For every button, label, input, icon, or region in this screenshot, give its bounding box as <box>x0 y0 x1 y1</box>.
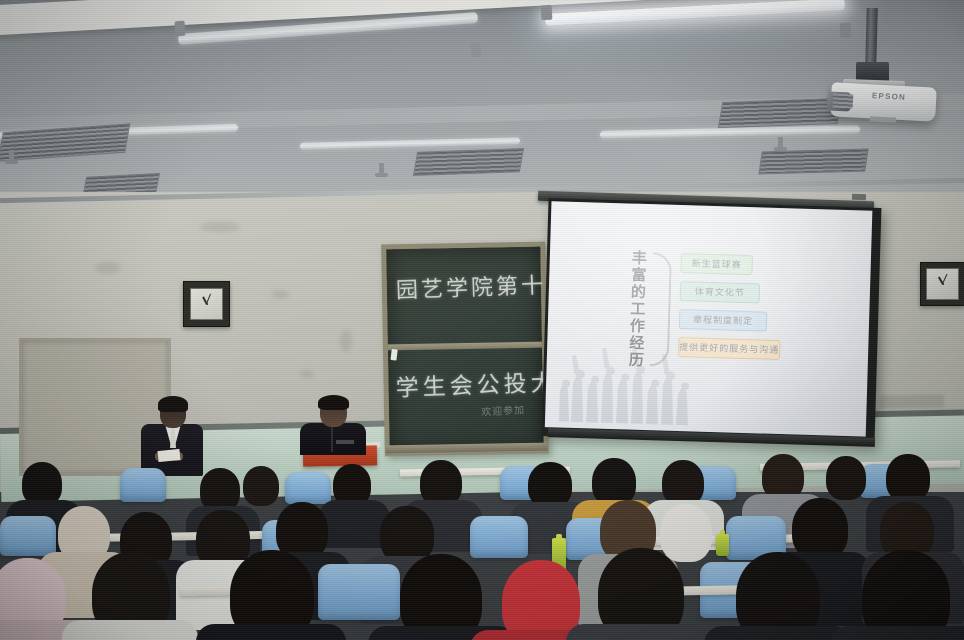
wall-smudge <box>272 290 289 299</box>
chalk-stick <box>390 349 397 361</box>
blackboard-surface: 园艺学院第十届 学生会公投大会 欢迎参加 <box>386 247 544 452</box>
wall-clock-right <box>920 262 964 306</box>
water-bottle[interactable] <box>716 534 729 556</box>
projector-mount-pole <box>865 8 878 66</box>
tube-end-cap <box>174 21 185 37</box>
audience-head <box>886 454 930 502</box>
wall-smudge <box>95 262 121 274</box>
wall-smudge <box>340 330 352 352</box>
chair[interactable] <box>285 472 331 504</box>
audience-torso <box>62 620 198 640</box>
blackboard-middle-rail <box>388 342 542 351</box>
audience-torso <box>196 624 346 640</box>
chair[interactable] <box>470 516 528 558</box>
speaker-jacket-hair <box>318 395 349 410</box>
tube-end-cap <box>471 43 482 58</box>
ceiling-air-vent <box>413 148 524 176</box>
ceiling-air-vent <box>718 98 843 128</box>
ceiling-pendant <box>9 150 14 162</box>
slide-bullet-box: 新生篮球赛 <box>680 253 753 275</box>
wall-mark <box>880 394 944 408</box>
slide-bullet-box: 体育文化节 <box>680 281 761 303</box>
clock-face <box>190 288 223 320</box>
blackboard: 园艺学院第十届 学生会公投大会 欢迎参加 <box>381 242 549 457</box>
audience-head <box>660 504 712 562</box>
wall-smudge <box>300 370 314 378</box>
audience-head <box>243 466 279 506</box>
slide-title: 丰富的工作经历 <box>625 249 650 369</box>
blackboard-text-line3: 欢迎参加 <box>481 401 526 418</box>
wall-clock-left <box>183 281 230 327</box>
chair[interactable] <box>120 468 166 502</box>
ceiling-pendant <box>379 163 384 175</box>
glasses-icon <box>163 408 183 414</box>
classroom-scene: EPSON 园艺学院第十届 <box>0 0 964 640</box>
ceiling-pendant <box>778 137 783 149</box>
projector-brand-label: EPSON <box>872 91 906 102</box>
clock-center <box>206 303 208 305</box>
projection-screen: 丰富的工作经历 新生篮球赛 体育文化节 章程制度制定 提供更好的服务与沟通 <box>542 198 882 446</box>
chair[interactable] <box>318 564 400 620</box>
seated-audience <box>0 440 964 640</box>
audience-head <box>826 456 866 500</box>
wall-smudge <box>200 222 240 232</box>
audience-head <box>502 560 580 640</box>
ceiling-air-vent <box>758 149 868 175</box>
projection-screen-surface: 丰富的工作经历 新生篮球赛 体育文化节 章程制度制定 提供更好的服务与沟通 <box>545 201 873 436</box>
chair[interactable] <box>0 516 56 556</box>
projector-vent <box>833 93 854 108</box>
audience-torso <box>830 626 964 640</box>
clock-face <box>926 268 959 300</box>
slide-brace-bracket <box>650 252 672 367</box>
audience-head <box>592 458 636 506</box>
tube-end-cap <box>541 5 553 21</box>
slide-bullet-box: 提供更好的服务与沟通 <box>678 337 781 360</box>
audience-head <box>792 498 848 560</box>
slide-bullet-box: 章程制度制定 <box>679 309 768 332</box>
screen-roller-knob[interactable] <box>852 194 866 200</box>
clock-center <box>942 283 944 285</box>
tube-end-cap <box>840 23 852 39</box>
audience-torso <box>566 624 718 640</box>
